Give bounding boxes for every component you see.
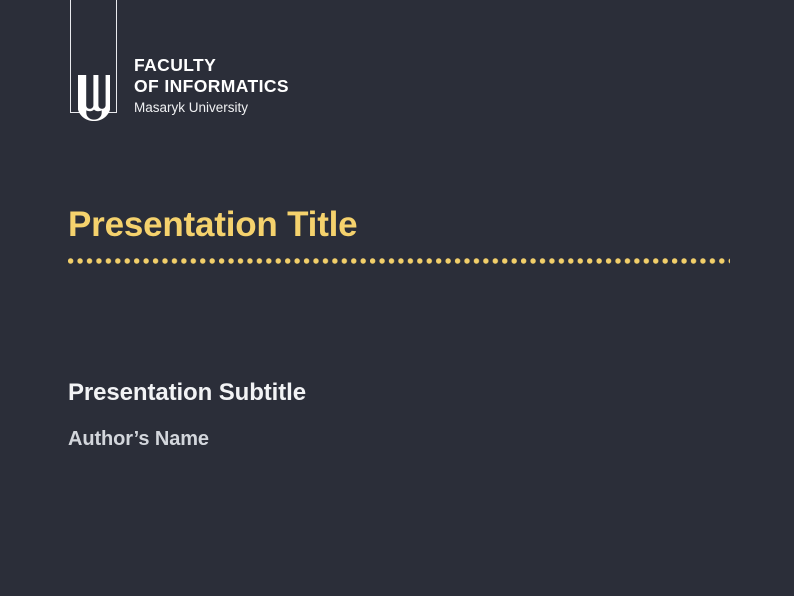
mu-monogram-icon — [78, 75, 110, 121]
logo-faculty-line-1: FACULTY — [134, 55, 694, 76]
logo-university-name: Masaryk University — [134, 99, 694, 117]
dotted-divider — [68, 258, 730, 264]
institution-logo-block: FACULTY OF INFORMATICS Masaryk Universit… — [70, 0, 730, 130]
slide-subtitle: Presentation Subtitle — [68, 377, 306, 409]
logo-wordmark: FACULTY OF INFORMATICS Masaryk Universit… — [134, 55, 694, 117]
logo-faculty-line-2: OF INFORMATICS — [134, 76, 694, 97]
slide-title: Presentation Title — [68, 203, 357, 247]
title-slide: FACULTY OF INFORMATICS Masaryk Universit… — [0, 0, 794, 596]
slide-author: Author’s Name — [68, 425, 209, 453]
